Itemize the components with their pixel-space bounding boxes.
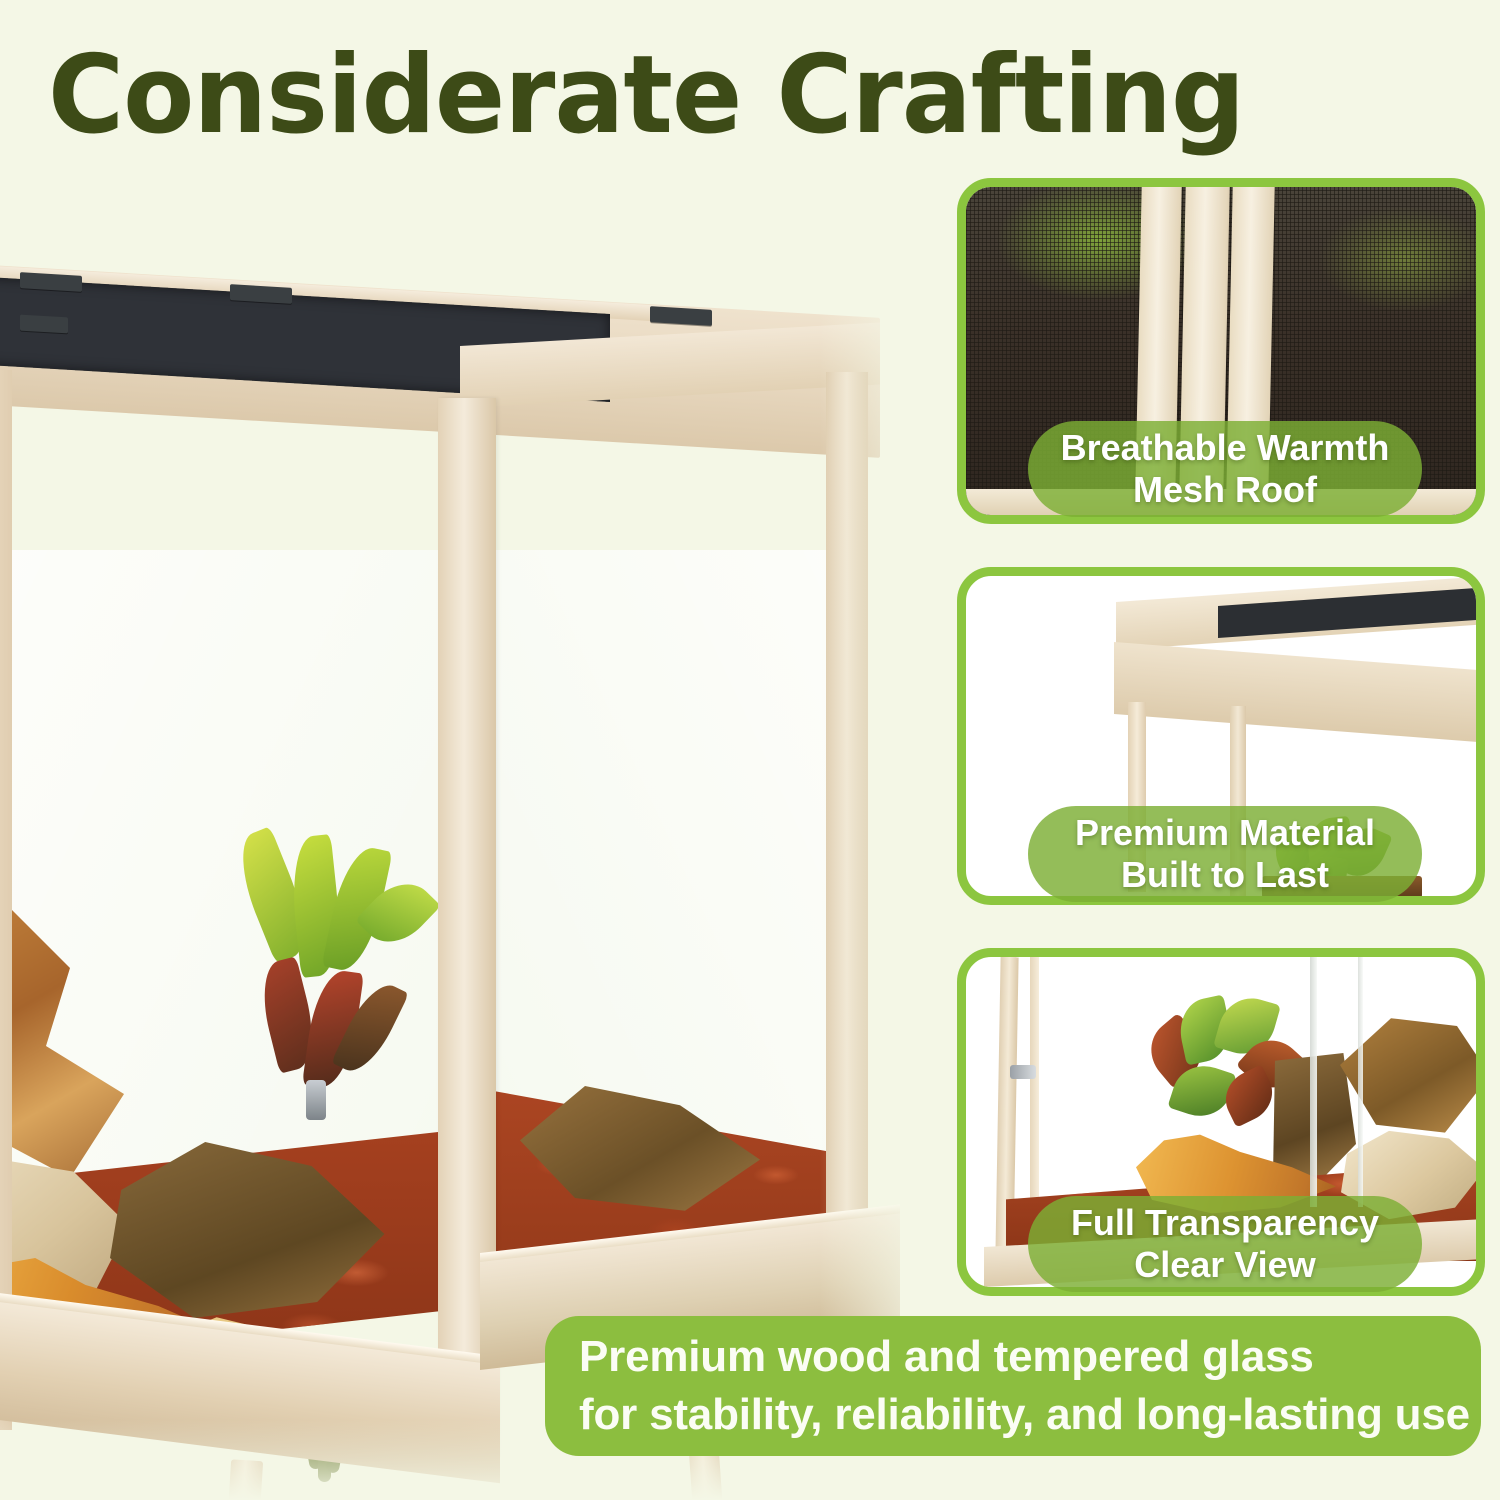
- marketing-image-canvas: Considerate Crafting: [0, 0, 1500, 1500]
- banner-line-2: for stability, reliability, and long-las…: [579, 1386, 1481, 1444]
- feature-label-line-1: Full Transparency: [1071, 1202, 1379, 1244]
- frame-post-inner: [1030, 957, 1039, 1227]
- feature-label-line-1: Breathable Warmth: [1061, 427, 1390, 469]
- artificial-plant: [210, 830, 470, 1120]
- feature-label-full-transparency: Full Transparency Clear View: [1028, 1196, 1422, 1292]
- hinge-icon: [20, 315, 68, 334]
- frame-post-left: [0, 370, 12, 1430]
- feature-label-line-2: Mesh Roof: [1133, 469, 1317, 511]
- feature-label-breathable-warmth: Breathable Warmth Mesh Roof: [1028, 421, 1422, 517]
- feature-label-line-1: Premium Material: [1075, 812, 1375, 854]
- feature-label-premium-material: Premium Material Built to Last: [1028, 806, 1422, 902]
- door-latch-icon: [1010, 1065, 1036, 1079]
- feature-label-line-2: Clear View: [1134, 1244, 1315, 1286]
- bottom-description-banner: Premium wood and tempered glass for stab…: [545, 1316, 1481, 1456]
- feature-label-line-2: Built to Last: [1121, 854, 1329, 896]
- banner-line-1: Premium wood and tempered glass: [579, 1328, 1481, 1386]
- photo-fade-right: [820, 250, 940, 1500]
- frame-front-face: [1114, 642, 1476, 745]
- glass-mullion: [1358, 957, 1363, 1207]
- glass-mullion: [1310, 957, 1317, 1207]
- hero-product-photo: [0, 250, 940, 1500]
- page-title: Considerate Crafting: [48, 42, 1411, 152]
